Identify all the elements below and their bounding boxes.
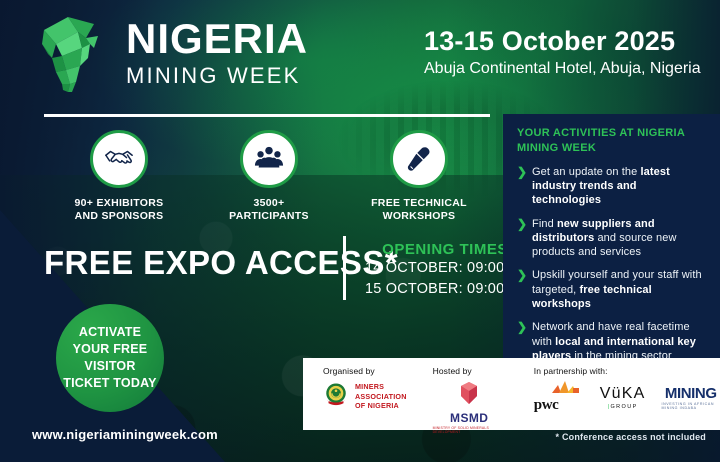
miners-association-logo[interactable]: MINERS ASSOCIATION OF NIGERIA (323, 381, 407, 412)
vuka-subtitle: |GROUP (608, 404, 638, 410)
activity-item: ❯ Network and have real facetime with lo… (517, 320, 708, 363)
msmd-subtitle: MINISTRY OF SOLID MINERALS DEVELOPMENT (433, 426, 506, 434)
brand-name-secondary: MINING WEEK (126, 63, 308, 89)
chevron-right-icon: ❯ (517, 320, 532, 335)
badge-line-1: ACTIVATE (79, 324, 141, 341)
event-dates: 13-15 October 2025 (424, 26, 701, 56)
activity-item: ❯ Upskill yourself and your staff with t… (517, 268, 708, 311)
activity-item: ❯ Get an update on the latest industry t… (517, 165, 708, 208)
activities-heading: YOUR ACTIVITIES AT NIGERIA MINING WEEK (517, 126, 708, 156)
hosted-by-group: Hosted by MSMD MINISTRY OF SOLID MINERAL… (433, 366, 506, 434)
pwc-logo[interactable]: pwc (534, 381, 584, 414)
stat-workshops: FREE TECHNICAL WORKSHOPS (344, 130, 494, 223)
activity-2-pre: Find (532, 218, 557, 230)
badge-line-4: TICKET TODAY (63, 375, 156, 392)
hosted-by-caption: Hosted by (433, 366, 506, 376)
mining-indaba-logo[interactable]: MINING INVESTING IN AFRICAN MINING INDAB… (662, 386, 720, 410)
header-divider (44, 114, 490, 117)
activities-panel: YOUR ACTIVITIES AT NIGERIA MINING WEEK ❯… (503, 114, 720, 359)
stat-workshops-label: FREE TECHNICAL WORKSHOPS (371, 197, 467, 223)
microphone-icon (390, 130, 448, 188)
people-group-icon (240, 130, 298, 188)
vuka-logo[interactable]: VüKA |GROUP (600, 386, 646, 410)
stat-exhibitors-label: 90+ EXHIBITORS AND SPONSORS (75, 197, 164, 223)
mining-indaba-subtitle: INVESTING IN AFRICAN MINING INDABA (662, 402, 720, 410)
in-partnership-group: In partnership with: pwc VüKA (534, 366, 720, 414)
event-venue: Abuja Continental Hotel, Abuja, Nigeria (424, 59, 701, 80)
chevron-right-icon: ❯ (517, 165, 532, 180)
in-partnership-caption: In partnership with: (534, 366, 720, 376)
disclaimer-text: * Conference access not included (556, 432, 706, 442)
miners-association-name: MINERS ASSOCIATION OF NIGERIA (355, 382, 407, 410)
activate-ticket-badge[interactable]: ACTIVATE YOUR FREE VISITOR TICKET TODAY (56, 304, 164, 412)
brand-logo: NIGERIA MINING WEEK (38, 14, 308, 94)
website-url[interactable]: www.nigeriaminingweek.com (32, 427, 218, 442)
activity-text-4: Network and have real facetime with loca… (532, 320, 708, 363)
vuka-subtitle-text: GROUP (610, 404, 637, 410)
stats-row: 90+ EXHIBITORS AND SPONSORS 3500+ PARTIC… (44, 130, 494, 223)
africa-map-icon (38, 14, 116, 94)
event-promo-banner: NIGERIA MINING WEEK 13-15 October 2025 A… (0, 0, 720, 462)
event-date-venue: 13-15 October 2025 Abuja Continental Hot… (424, 26, 701, 80)
section-divider (343, 236, 346, 300)
msmd-logo[interactable]: MSMD MINISTRY OF SOLID MINERALS DEVELOPM… (433, 381, 506, 434)
activity-text-3: Upskill yourself and your staff with tar… (532, 268, 708, 311)
brand-name-primary: NIGERIA (126, 18, 308, 60)
handshake-icon (90, 130, 148, 188)
chevron-right-icon: ❯ (517, 217, 532, 232)
stat-participants-label: 3500+ PARTICIPANTS (229, 197, 309, 223)
activity-text-2: Find new suppliers and distributors and … (532, 217, 708, 260)
activity-text-1: Get an update on the latest industry tre… (532, 165, 708, 208)
pwc-logo-icon (548, 381, 584, 397)
mining-indaba-name: MINING (665, 386, 717, 401)
organised-by-group: Organised by MINERS A (323, 366, 407, 412)
stat-exhibitors: 90+ EXHIBITORS AND SPONSORS (44, 130, 194, 223)
vuka-name: VüKA (600, 386, 646, 402)
msmd-name: MSMD (450, 411, 488, 425)
chevron-right-icon: ❯ (517, 268, 532, 283)
organised-by-caption: Organised by (323, 366, 407, 376)
stat-participants: 3500+ PARTICIPANTS (194, 130, 344, 223)
miners-association-seal-icon (323, 381, 349, 412)
msmd-gem-icon (457, 381, 481, 410)
activity-1-pre: Get an update on the (532, 166, 641, 178)
partners-bar: Organised by MINERS A (303, 358, 720, 430)
pwc-name: pwc (534, 397, 559, 414)
opening-times-title: OPENING TIMES (365, 241, 525, 258)
activity-item: ❯ Find new suppliers and distributors an… (517, 217, 708, 260)
badge-line-2: YOUR FREE (73, 341, 148, 358)
badge-line-3: VISITOR (84, 358, 135, 375)
